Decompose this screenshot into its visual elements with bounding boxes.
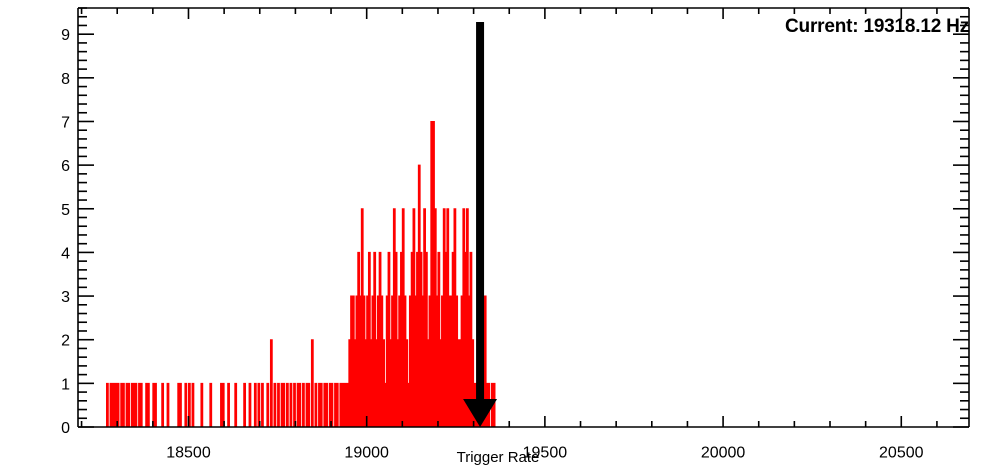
- x-axis-title: Trigger Rate: [0, 449, 996, 466]
- y-tick-label: 5: [61, 202, 70, 219]
- y-tick-label: 8: [61, 71, 70, 88]
- y-tick-label: 7: [61, 114, 70, 131]
- y-tick-label: 2: [61, 333, 70, 350]
- trigger-rate-histogram[interactable]: 1850019000195002000020500 0123456789: [0, 0, 996, 472]
- y-tick-label: 6: [61, 158, 70, 175]
- y-tick-label: 1: [61, 376, 70, 393]
- arrow-shaft: [476, 22, 484, 399]
- histogram-canvas: 1850019000195002000020500 0123456789 Cur…: [0, 0, 996, 472]
- plot-frame: [78, 8, 969, 427]
- histogram-series: [78, 121, 969, 427]
- current-rate-label: Current: 19318.12 Hz: [785, 16, 969, 38]
- y-tick-label: 0: [61, 420, 70, 437]
- y-tick-label: 9: [61, 27, 70, 44]
- y-tick-label: 4: [61, 245, 70, 262]
- y-axis: 0123456789: [61, 8, 969, 437]
- y-tick-label: 3: [61, 289, 70, 306]
